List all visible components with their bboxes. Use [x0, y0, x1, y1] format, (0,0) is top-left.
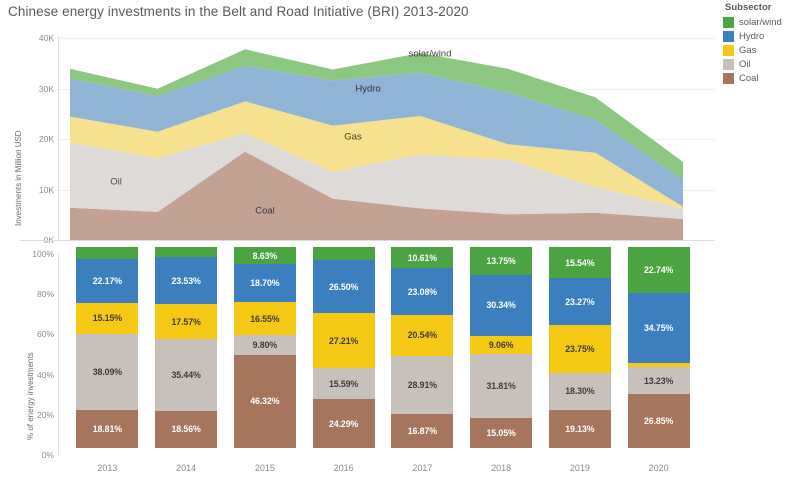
bar-value-label: 20.54% — [408, 330, 437, 340]
bar-segment-gas[interactable]: 16.55% — [234, 302, 296, 335]
x-tick-label-2014: 2014 — [176, 463, 196, 473]
bar-segment-solar-wind[interactable]: 8.63% — [234, 247, 296, 264]
legend-item-hydro[interactable]: Hydro — [723, 30, 798, 43]
legend-title: Subsector — [723, 2, 798, 13]
bar-value-label: 17.57% — [172, 317, 201, 327]
legend-swatch-icon — [723, 17, 734, 28]
bar-value-label: 16.55% — [250, 314, 279, 324]
legend-item-label: Coal — [739, 73, 759, 84]
bar-value-label: 31.81% — [487, 381, 516, 391]
bar-segment-hydro[interactable]: 34.75% — [628, 293, 690, 363]
bar-group-2020: 26.85%13.23%34.75%22.74% — [628, 247, 690, 448]
bar-segment-coal[interactable]: 16.87% — [391, 414, 453, 448]
bar-segment-oil[interactable]: 18.30% — [549, 373, 611, 410]
legend-item-solar-wind[interactable]: solar/wind — [723, 16, 798, 29]
bar-value-label: 13.23% — [644, 376, 673, 386]
bar-value-label: 38.09% — [93, 367, 122, 377]
legend-swatch-icon — [723, 59, 734, 70]
bar-value-label: 27.21% — [329, 336, 358, 346]
bar-segment-coal[interactable]: 24.29% — [313, 399, 375, 448]
x-tick-label-2019: 2019 — [570, 463, 590, 473]
bar-value-label: 19.13% — [565, 424, 594, 434]
bar-value-label: 18.81% — [93, 424, 122, 434]
x-tick-label-2020: 2020 — [649, 463, 669, 473]
legend: Subsector solar/windHydroGasOilCoal — [723, 2, 798, 86]
x-tick-label-2017: 2017 — [412, 463, 432, 473]
bar-segment-solar-wind[interactable]: 13.75% — [470, 247, 532, 275]
page-title: Chinese energy investments in the Belt a… — [8, 4, 469, 19]
legend-swatch-icon — [723, 45, 734, 56]
bar-segment-gas[interactable]: 20.54% — [391, 315, 453, 356]
legend-item-oil[interactable]: Oil — [723, 58, 798, 71]
bar-segment-solar-wind[interactable] — [76, 247, 138, 259]
legend-item-label: solar/wind — [739, 17, 782, 28]
visualization-root: Chinese energy investments in the Belt a… — [0, 0, 800, 489]
bar-group-2018: 15.05%31.81%9.06%30.34%13.75% — [470, 247, 532, 448]
bar-segment-oil[interactable]: 15.59% — [313, 368, 375, 399]
bar-segment-hydro[interactable]: 18.70% — [234, 264, 296, 302]
bar-value-label: 23.75% — [565, 344, 594, 354]
x-tick-label-2016: 2016 — [334, 463, 354, 473]
area-label-gas: Gas — [344, 132, 361, 143]
legend-item-list: solar/windHydroGasOilCoal — [723, 16, 798, 85]
bar-segment-hydro[interactable]: 23.27% — [549, 278, 611, 325]
bar-value-label: 46.32% — [250, 396, 279, 406]
bar-segment-coal[interactable]: 15.05% — [470, 418, 532, 448]
bar-group-2014: 18.56%35.44%17.57%23.53% — [155, 247, 217, 448]
bar-segment-coal[interactable]: 19.13% — [549, 410, 611, 448]
bar-chart-panel: % of energy investments 100%80%60%40%20%… — [0, 250, 715, 462]
bar-segment-hydro[interactable]: 30.34% — [470, 275, 532, 336]
bar-segment-hydro[interactable]: 23.53% — [155, 257, 217, 304]
bar-value-label: 18.70% — [250, 278, 279, 288]
bar-segment-oil[interactable]: 38.09% — [76, 334, 138, 411]
bar-value-label: 9.06% — [489, 340, 513, 350]
bar-value-label: 23.27% — [565, 297, 594, 307]
bar-value-label: 15.05% — [487, 428, 516, 438]
bar-segment-solar-wind[interactable]: 15.54% — [549, 247, 611, 278]
bar-segment-oil[interactable]: 35.44% — [155, 339, 217, 410]
bar-groups: 18.81%38.09%15.15%22.17%18.56%35.44%17.5… — [0, 250, 715, 455]
bar-group-2019: 19.13%18.30%23.75%23.27%15.54% — [549, 247, 611, 448]
bar-value-label: 23.08% — [408, 287, 437, 297]
bar-segment-solar-wind[interactable] — [313, 247, 375, 260]
bar-segment-coal[interactable]: 18.56% — [155, 411, 217, 448]
bar-value-label: 15.15% — [93, 313, 122, 323]
bar-segment-hydro[interactable]: 22.17% — [76, 259, 138, 304]
bar-group-2016: 24.29%15.59%27.21%26.50% — [313, 247, 375, 448]
legend-item-label: Gas — [739, 45, 756, 56]
bar-segment-gas[interactable] — [628, 363, 690, 368]
bar-value-label: 8.63% — [253, 251, 277, 261]
bar-value-label: 9.80% — [253, 340, 277, 350]
bar-value-label: 22.74% — [644, 265, 673, 275]
x-tick-label-2015: 2015 — [255, 463, 275, 473]
legend-item-gas[interactable]: Gas — [723, 44, 798, 57]
bar-value-label: 26.50% — [329, 282, 358, 292]
bar-segment-gas[interactable]: 27.21% — [313, 313, 375, 368]
legend-item-label: Hydro — [739, 31, 764, 42]
bar-group-2013: 18.81%38.09%15.15%22.17% — [76, 247, 138, 448]
bar-value-label: 24.29% — [329, 419, 358, 429]
legend-swatch-icon — [723, 31, 734, 42]
bar-segment-oil[interactable]: 28.91% — [391, 356, 453, 414]
x-tick-label-2013: 2013 — [97, 463, 117, 473]
area-label-solar-wind: solar/wind — [409, 49, 452, 60]
bar-value-label: 35.44% — [172, 370, 201, 380]
x-axis-ticks: 20132014201520162017201820192020 — [0, 463, 715, 483]
bar-group-2015: 46.32%9.80%16.55%18.70%8.63% — [234, 247, 296, 448]
bar-segment-coal[interactable]: 18.81% — [76, 410, 138, 448]
bar-value-label: 34.75% — [644, 323, 673, 333]
bar-segment-coal[interactable]: 46.32% — [234, 355, 296, 448]
legend-item-coal[interactable]: Coal — [723, 72, 798, 85]
bar-segment-gas[interactable]: 9.06% — [470, 336, 532, 354]
bar-segment-coal[interactable]: 26.85% — [628, 394, 690, 448]
legend-swatch-icon — [723, 73, 734, 84]
bar-value-label: 22.17% — [93, 276, 122, 286]
bar-segment-gas[interactable]: 23.75% — [549, 325, 611, 373]
bar-segment-hydro[interactable]: 26.50% — [313, 260, 375, 313]
bar-segment-oil[interactable]: 13.23% — [628, 367, 690, 394]
bar-group-2017: 16.87%28.91%20.54%23.08%10.61% — [391, 247, 453, 448]
area-label-oil: Oil — [110, 177, 122, 188]
bar-segment-solar-wind[interactable]: 22.74% — [628, 247, 690, 293]
bar-value-label: 13.75% — [487, 256, 516, 266]
bar-value-label: 15.59% — [329, 379, 358, 389]
bar-segment-oil[interactable]: 31.81% — [470, 354, 532, 418]
bar-value-label: 23.53% — [172, 276, 201, 286]
bar-value-label: 18.30% — [565, 386, 594, 396]
bar-segment-gas[interactable]: 17.57% — [155, 304, 217, 339]
area-label-coal: Coal — [255, 206, 275, 217]
bar-segment-gas[interactable]: 15.15% — [76, 303, 138, 333]
area-label-hydro: Hydro — [355, 84, 380, 95]
x-tick-label-2018: 2018 — [491, 463, 511, 473]
bar-segment-solar-wind[interactable]: 10.61% — [391, 247, 453, 268]
legend-item-label: Oil — [739, 59, 751, 70]
bar-segment-oil[interactable]: 9.80% — [234, 335, 296, 355]
bar-value-label: 10.61% — [408, 253, 437, 263]
bar-value-label: 15.54% — [565, 258, 594, 268]
bar-value-label: 18.56% — [172, 424, 201, 434]
bar-value-label: 26.85% — [644, 416, 673, 426]
bar-segment-solar-wind[interactable] — [155, 247, 217, 257]
bar-value-label: 16.87% — [408, 426, 437, 436]
bar-segment-hydro[interactable]: 23.08% — [391, 268, 453, 314]
bar-value-label: 28.91% — [408, 380, 437, 390]
area-chart-panel: Investments in Million USD 40K30K20K10K0… — [0, 26, 715, 248]
bar-value-label: 30.34% — [487, 300, 516, 310]
